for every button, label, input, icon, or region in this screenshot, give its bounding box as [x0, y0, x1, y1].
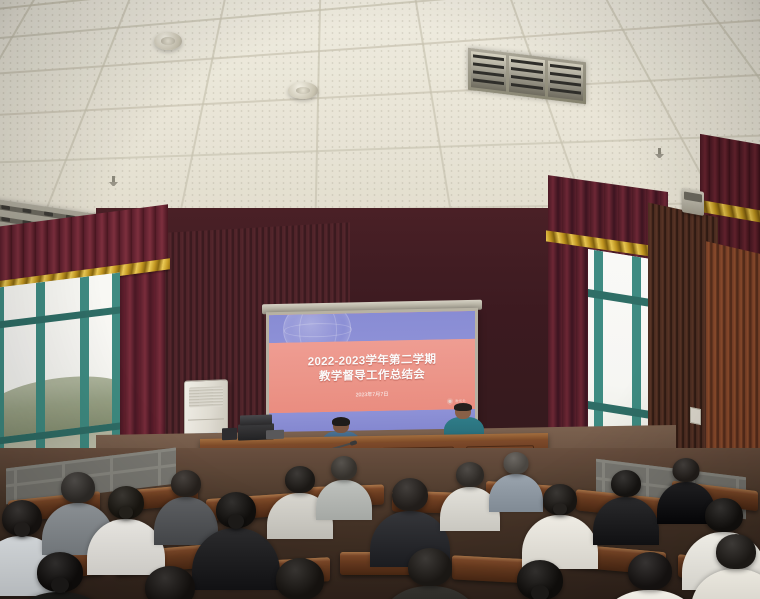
light-louver — [511, 59, 542, 66]
ac-seam — [188, 418, 224, 420]
audience-head — [628, 552, 672, 590]
hair-bun — [228, 514, 244, 528]
light-panel — [548, 61, 583, 101]
light-panel — [509, 56, 544, 96]
hair-bun — [14, 522, 30, 536]
slide-date: 2023年7月7日 — [356, 390, 389, 398]
audience-head — [611, 470, 641, 497]
audience-head — [456, 462, 484, 487]
slide-title-line2: 教学督导工作总结会 — [319, 368, 425, 385]
audience-shoulders — [10, 592, 110, 599]
audience-member — [247, 558, 353, 599]
sprinkler-head-icon — [109, 176, 118, 187]
audience-head — [408, 548, 452, 586]
audience-shoulders — [691, 569, 760, 599]
hair-bun — [531, 585, 549, 599]
wall-speaker-icon — [682, 188, 704, 216]
light-louver — [473, 78, 504, 85]
light-louver — [511, 83, 542, 90]
ac-grille — [189, 386, 223, 407]
audience-shoulders — [316, 480, 372, 520]
audience-head — [285, 466, 315, 493]
slide-body: 2022-2023学年第二学期 教学督导工作总结会 2023年7月7日 教务处 — [269, 339, 475, 413]
sprinkler-head-icon — [655, 148, 664, 159]
audience-member — [316, 456, 372, 520]
audience-member — [593, 470, 659, 545]
audience-shoulders — [601, 590, 699, 599]
audience-member — [10, 552, 110, 599]
light-louver — [550, 64, 581, 71]
conference-room-photo: 2022-2023学年第二学期 教学督导工作总结会 2023年7月7日 教务处 — [0, 0, 760, 599]
smoke-detector-icon — [288, 82, 318, 99]
audience-head — [145, 566, 195, 599]
light-switch[interactable] — [690, 407, 701, 425]
audience-head — [504, 452, 529, 474]
audience-head — [705, 498, 743, 532]
slide-top-band — [269, 311, 475, 344]
audience-head — [392, 478, 428, 511]
speaker-hair — [332, 417, 350, 426]
audience-member — [488, 560, 592, 599]
light-louver — [511, 67, 542, 74]
audience-member — [601, 552, 699, 599]
audience-member — [115, 566, 225, 599]
av-equipment-box — [266, 430, 284, 440]
audience-head — [716, 534, 756, 569]
audience-member — [522, 484, 598, 569]
light-louver — [550, 80, 581, 87]
audience-member — [691, 534, 760, 599]
ceiling-tile-joint — [0, 131, 760, 166]
audience-head — [276, 558, 324, 599]
audience-shoulders — [381, 586, 479, 599]
light-louver — [473, 62, 504, 69]
smoke-detector-icon — [154, 32, 182, 50]
audience-head — [331, 456, 357, 480]
globe-graphic-icon — [283, 311, 351, 344]
light-louver — [473, 54, 504, 61]
light-louver — [550, 72, 581, 79]
audience-member — [381, 548, 479, 599]
light-louver — [473, 70, 504, 77]
light-panel — [471, 51, 506, 91]
audience-shoulders — [593, 497, 659, 545]
av-equipment-box — [222, 428, 237, 441]
audience-head — [673, 458, 700, 482]
light-louver — [550, 88, 581, 95]
speaker-hair — [454, 403, 472, 411]
light-louver — [511, 75, 542, 82]
